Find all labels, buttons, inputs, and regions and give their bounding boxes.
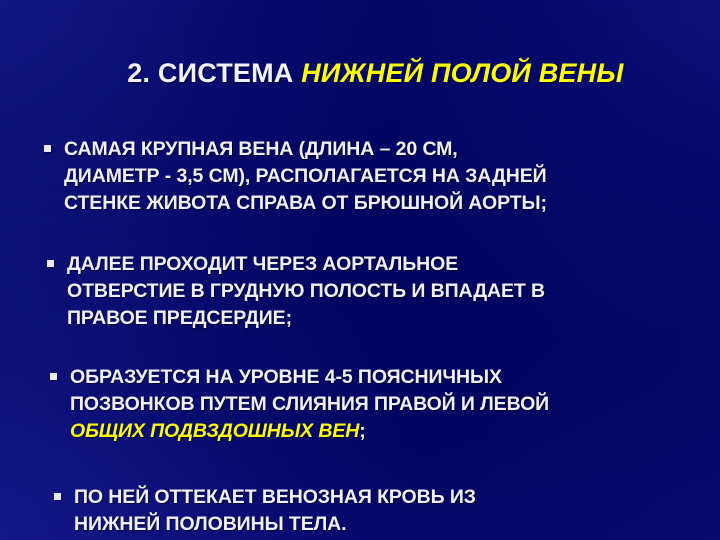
list-item: ДАЛЕЕ ПРОХОДИТ ЧЕРЕЗ АОРТАЛЬНОЕ ОТВЕРСТИ…	[47, 251, 545, 332]
list-item-main: САМАЯ КРУПНАЯ ВЕНА (ДЛИНА – 20 СМ, ДИАМЕ…	[64, 138, 547, 214]
presentation-slide: 2. СИСТЕМА НИЖНЕЙ ПОЛОЙ ВЕНЫ САМАЯ КРУПН…	[0, 0, 720, 540]
slide-title: 2. СИСТЕМА НИЖНЕЙ ПОЛОЙ ВЕНЫ	[0, 24, 720, 123]
list-item: САМАЯ КРУПНАЯ ВЕНА (ДЛИНА – 20 СМ, ДИАМЕ…	[44, 136, 547, 217]
slide-body: САМАЯ КРУПНАЯ ВЕНА (ДЛИНА – 20 СМ, ДИАМЕ…	[0, 120, 720, 540]
square-bullet-icon	[50, 373, 57, 380]
list-item-text: ПО НЕЙ ОТТЕКАЕТ ВЕНОЗНАЯ КРОВЬ ИЗ НИЖНЕЙ…	[74, 484, 476, 538]
list-item: ОБРАЗУЕТСЯ НА УРОВНЕ 4-5 ПОЯСНИЧНЫХ ПОЗВ…	[50, 364, 549, 445]
list-item-text: ОБРАЗУЕТСЯ НА УРОВНЕ 4-5 ПОЯСНИЧНЫХ ПОЗВ…	[70, 364, 549, 445]
list-item-tail: ;	[359, 420, 365, 442]
slide-title-prefix: 2. СИСТЕМА	[127, 58, 301, 88]
square-bullet-icon	[44, 145, 51, 152]
square-bullet-icon	[54, 493, 61, 500]
list-item: ПО НЕЙ ОТТЕКАЕТ ВЕНОЗНАЯ КРОВЬ ИЗ НИЖНЕЙ…	[54, 484, 476, 538]
list-item-text: ДАЛЕЕ ПРОХОДИТ ЧЕРЕЗ АОРТАЛЬНОЕ ОТВЕРСТИ…	[67, 251, 545, 332]
list-item-main: ОБРАЗУЕТСЯ НА УРОВНЕ 4-5 ПОЯСНИЧНЫХ ПОЗВ…	[70, 366, 549, 415]
slide-title-emphasis: НИЖНЕЙ ПОЛОЙ ВЕНЫ	[301, 58, 623, 88]
list-item-main: ДАЛЕЕ ПРОХОДИТ ЧЕРЕЗ АОРТАЛЬНОЕ ОТВЕРСТИ…	[67, 253, 545, 329]
list-item-emphasis: ОБЩИХ ПОДВЗДОШНЫХ ВЕН	[70, 420, 359, 442]
list-item-main: ПО НЕЙ ОТТЕКАЕТ ВЕНОЗНАЯ КРОВЬ ИЗ НИЖНЕЙ…	[74, 486, 476, 535]
list-item-text: САМАЯ КРУПНАЯ ВЕНА (ДЛИНА – 20 СМ, ДИАМЕ…	[64, 136, 547, 217]
square-bullet-icon	[47, 260, 54, 267]
